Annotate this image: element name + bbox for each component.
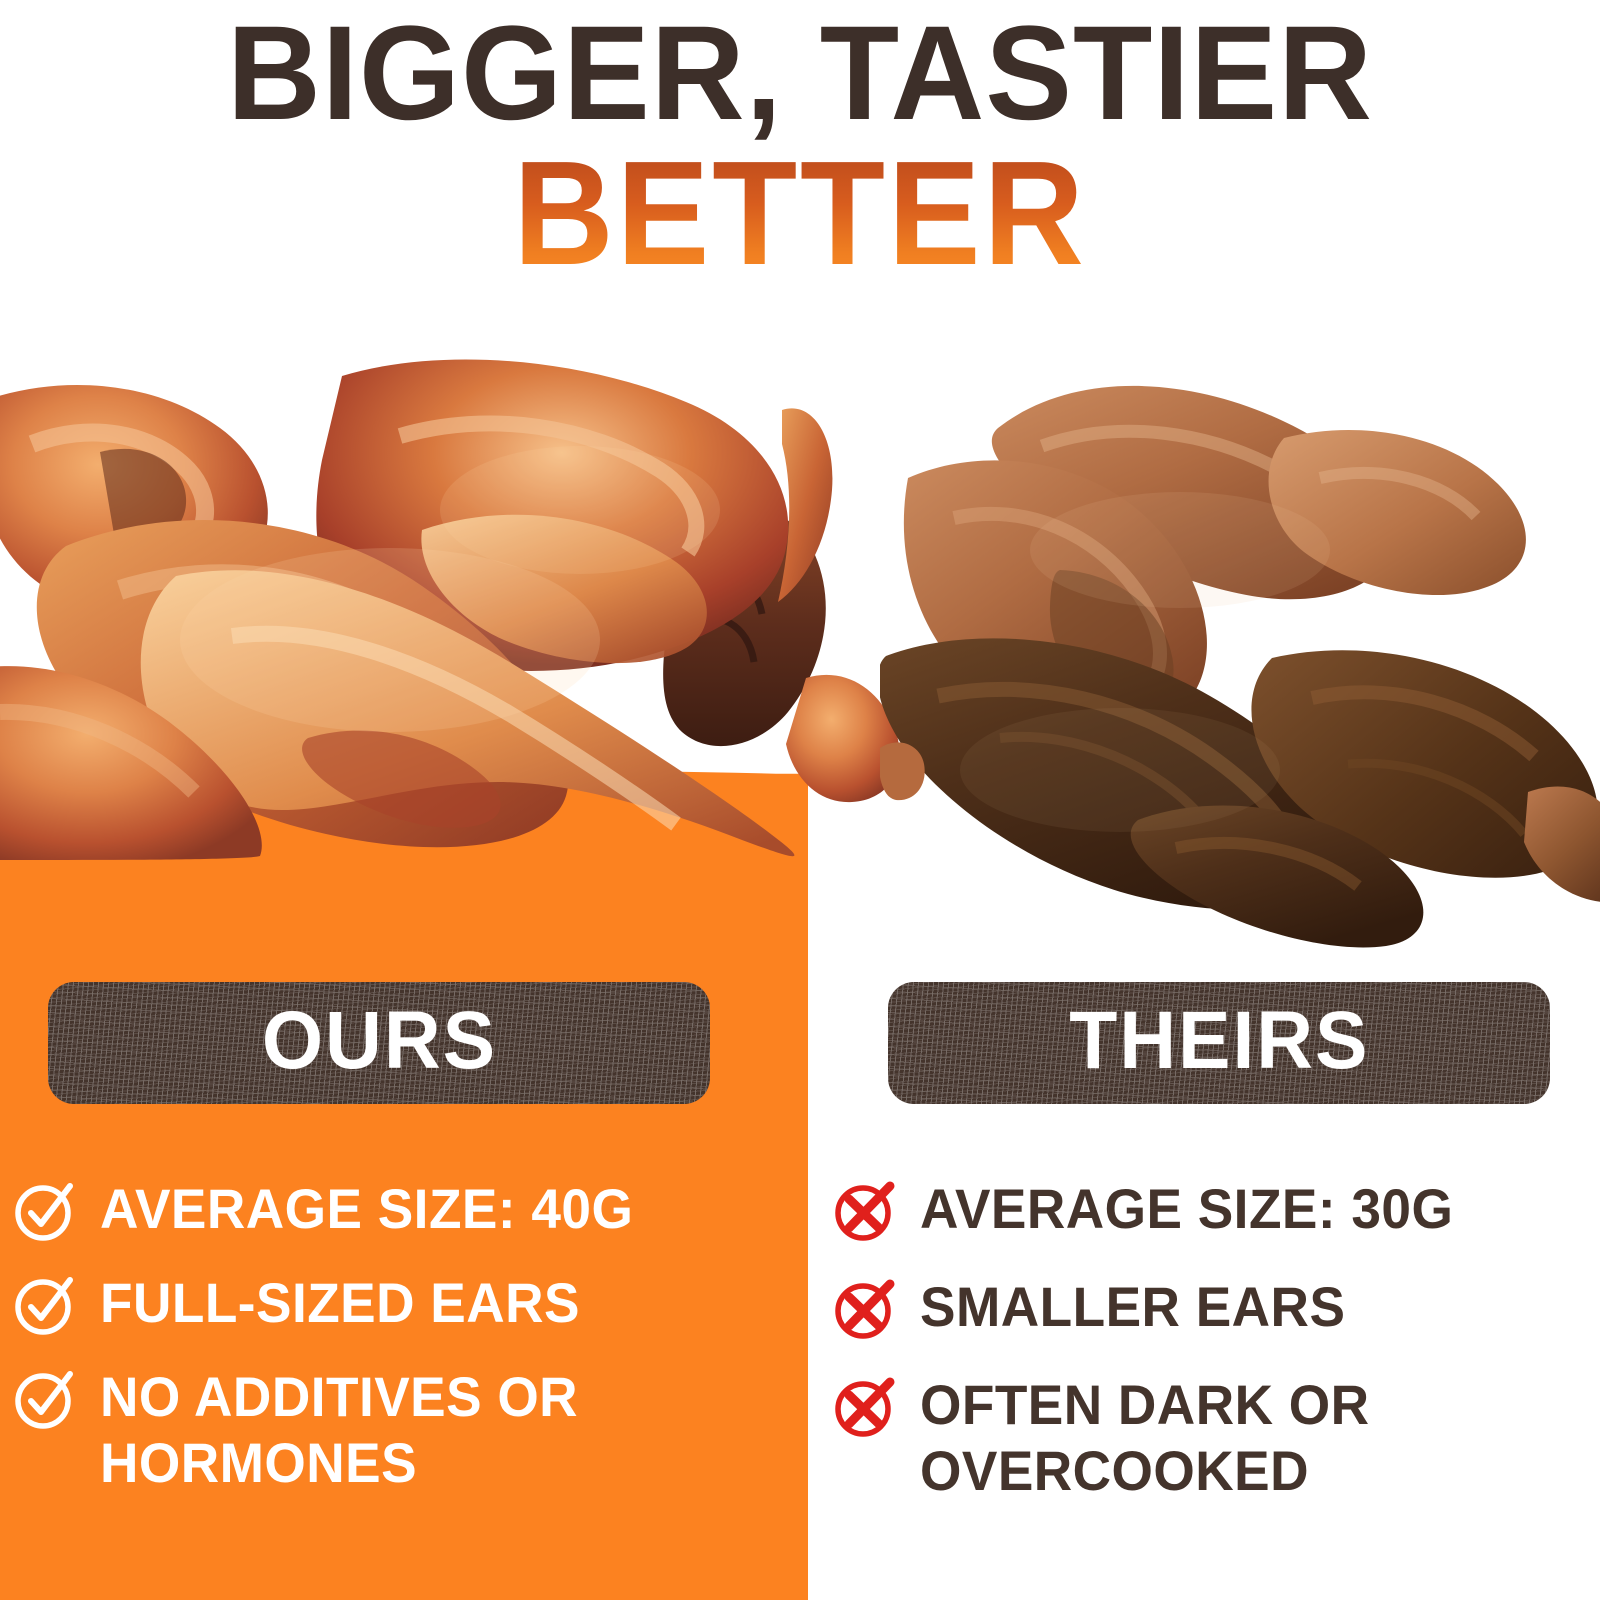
list-item: AVERAGE SIZE: 40G [12,1176,792,1244]
ours-product-photo [0,340,900,860]
theirs-feature-list: AVERAGE SIZE: 30G SMALLER EARS OFTEN [832,1176,1592,1534]
x-circle-icon [832,1374,898,1440]
check-circle-icon [12,1178,78,1244]
comparison-poster: BIGGER, TASTIER BETTER [0,0,1600,1600]
list-item: OFTEN DARK OR OVERCOOKED [832,1372,1592,1504]
ours-label: OURS [261,1000,496,1086]
theirs-label: THEIRS [1069,1000,1369,1086]
ours-feature-text: NO ADDITIVES OR HORMONES [100,1364,757,1496]
ours-feature-text: AVERAGE SIZE: 40G [100,1176,757,1242]
theirs-feature-text: OFTEN DARK OR OVERCOOKED [920,1372,1558,1504]
ours-feature-list: AVERAGE SIZE: 40G FULL-SIZED EARS NO ADD… [12,1176,792,1522]
list-item: AVERAGE SIZE: 30G [832,1176,1592,1244]
list-item: SMALLER EARS [832,1274,1592,1342]
ours-column-header-pill: OURS [48,982,710,1104]
list-item: FULL-SIZED EARS [12,1270,792,1338]
theirs-feature-text: AVERAGE SIZE: 30G [920,1176,1558,1242]
ours-feature-text: FULL-SIZED EARS [100,1270,757,1336]
x-circle-icon [832,1276,898,1342]
check-circle-icon [12,1366,78,1432]
headline-line-2: BETTER [48,143,1552,285]
headline: BIGGER, TASTIER BETTER [0,8,1600,285]
headline-line-1: BIGGER, TASTIER [24,8,1576,139]
check-circle-icon [12,1272,78,1338]
theirs-column-header-pill: THEIRS [888,982,1550,1104]
theirs-product-photo [880,350,1600,950]
theirs-feature-text: SMALLER EARS [920,1274,1558,1340]
list-item: NO ADDITIVES OR HORMONES [12,1364,792,1496]
x-circle-icon [832,1178,898,1244]
